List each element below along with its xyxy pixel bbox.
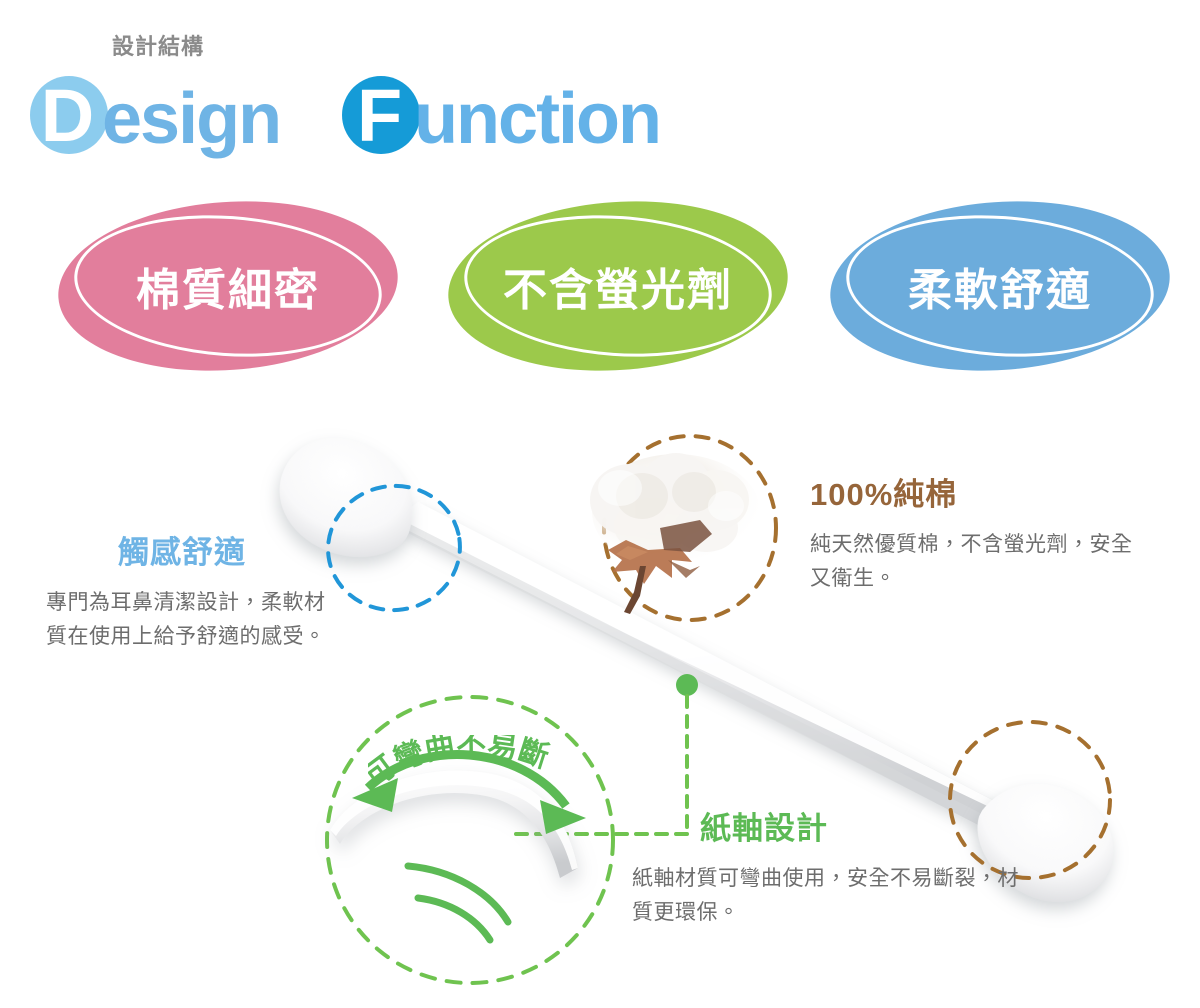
bend-motion-arcs-icon <box>408 866 508 940</box>
svg-text:可彎曲不易斷: 可彎曲不易斷 <box>368 735 553 794</box>
feature-paper-shaft: 紙軸設計 紙軸材質可彎曲使用，安全不易斷裂，材質更環保。 <box>700 812 1040 930</box>
feature-touch-title: 觸感舒適 <box>46 536 336 570</box>
badge-label: 不含螢光劑 <box>448 202 788 370</box>
function-word-rest: unction <box>414 83 660 155</box>
design-word-rest: esign <box>102 83 280 155</box>
badge-label: 棉質細密 <box>58 202 398 370</box>
cotton-boll-image <box>590 453 760 614</box>
badge-cotton-dense: 棉質細密 <box>58 202 398 370</box>
feature-touch-body: 專門為耳鼻清潔設計，柔軟材質在使用上給予舒適的感受。 <box>46 586 336 654</box>
function-capital-badge: F <box>340 70 418 162</box>
header: 設計結構 D esign F unction <box>0 0 1200 180</box>
design-capital-letter: D <box>41 79 93 153</box>
feature-cotton-title: 100%純棉 <box>810 478 1140 512</box>
feature-paper-title: 紙軸設計 <box>700 812 1040 846</box>
wordmark-function: F unction <box>340 70 660 162</box>
badge-label: 柔軟舒適 <box>830 202 1170 370</box>
bend-label-text: 可彎曲不易斷 <box>368 735 553 794</box>
wordmark-design: D esign <box>28 70 280 162</box>
bend-label-svg: 可彎曲不易斷 <box>368 735 588 805</box>
function-capital-letter: F <box>357 79 401 153</box>
badge-soft-comfort: 柔軟舒適 <box>830 202 1170 370</box>
design-capital-badge: D <box>28 70 106 162</box>
feature-pure-cotton: 100%純棉 純天然優質棉，不含螢光劑，安全又衛生。 <box>810 478 1140 596</box>
feature-badge-row: 棉質細密 不含螢光劑 柔軟舒適 <box>0 196 1200 386</box>
feature-cotton-body: 純天然優質棉，不含螢光劑，安全又衛生。 <box>810 528 1140 596</box>
connector-dot-icon <box>676 674 698 696</box>
wordmark: D esign F unction <box>28 70 660 162</box>
badge-no-fluorescent: 不含螢光劑 <box>448 202 788 370</box>
feature-paper-body: 紙軸材質可彎曲使用，安全不易斷裂，材質更環保。 <box>632 862 1032 930</box>
page-kicker: 設計結構 <box>112 36 204 58</box>
feature-touch-comfort: 觸感舒適 專門為耳鼻清潔設計，柔軟材質在使用上給予舒適的感受。 <box>46 536 336 654</box>
